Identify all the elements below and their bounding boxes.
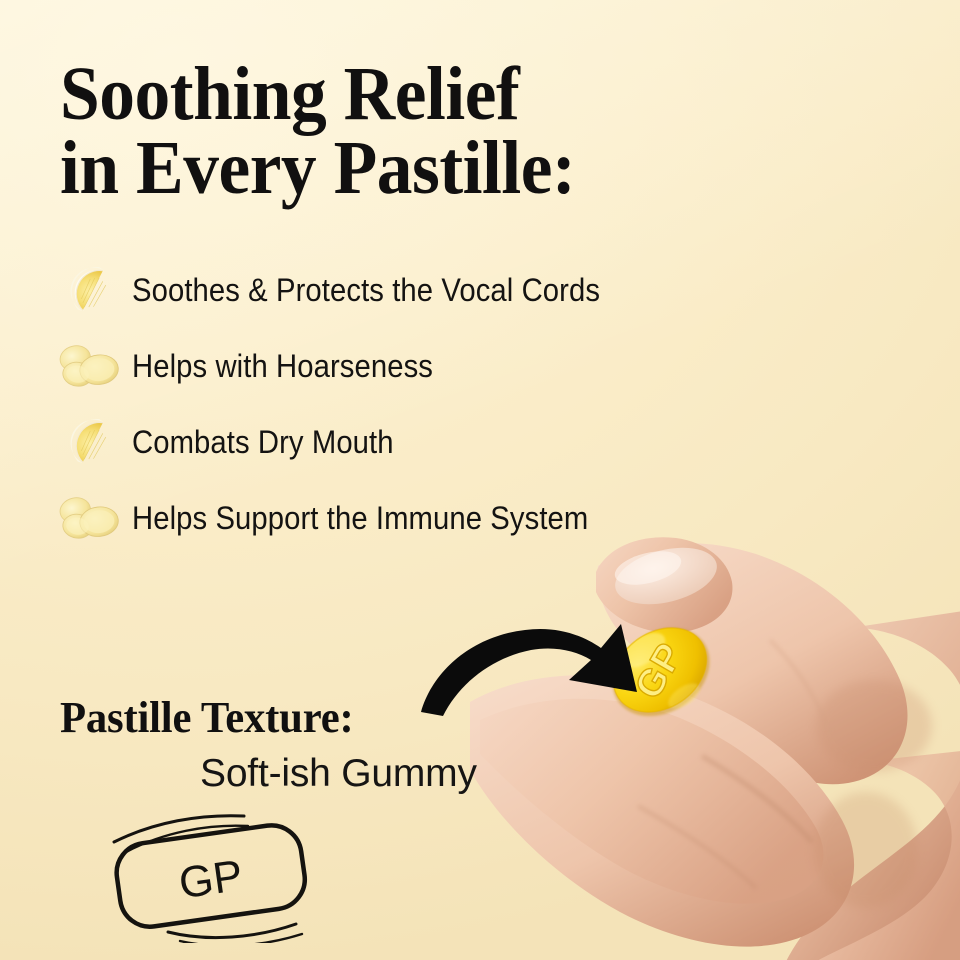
- headline-line-2: in Every Pastille:: [60, 132, 774, 206]
- list-item: Helps Support the Immune System: [56, 480, 756, 556]
- ginger-root-icon: [56, 333, 132, 399]
- list-item-label: Helps Support the Immune System: [132, 500, 588, 537]
- product-benefits-graphic: Soothing Relief in Every Pastille:: [0, 0, 960, 960]
- list-item-label: Soothes & Protects the Vocal Cords: [132, 272, 600, 309]
- list-item: Soothes & Protects the Vocal Cords: [56, 252, 756, 328]
- list-item: Helps with Hoarseness: [56, 328, 756, 404]
- list-item-label: Helps with Hoarseness: [132, 348, 433, 385]
- ginger-root-icon: [56, 485, 132, 551]
- pastille-sketch-icon: GP: [96, 808, 326, 943]
- benefits-list: Soothes & Protects the Vocal Cords: [56, 252, 756, 556]
- curved-arrow-icon: [415, 600, 655, 720]
- list-item-label: Combats Dry Mouth: [132, 424, 394, 461]
- sketch-monogram: GP: [176, 851, 246, 908]
- lemon-wedge-icon: [56, 409, 132, 475]
- lemon-wedge-icon: [56, 257, 132, 323]
- texture-value: Soft-ish Gummy: [200, 752, 477, 796]
- page-title: Soothing Relief in Every Pastille:: [60, 58, 774, 205]
- texture-label: Pastille Texture:: [60, 692, 353, 743]
- list-item: Combats Dry Mouth: [56, 404, 756, 480]
- hand-holding-pastille-photo: [470, 520, 960, 960]
- headline-line-1: Soothing Relief: [60, 52, 519, 136]
